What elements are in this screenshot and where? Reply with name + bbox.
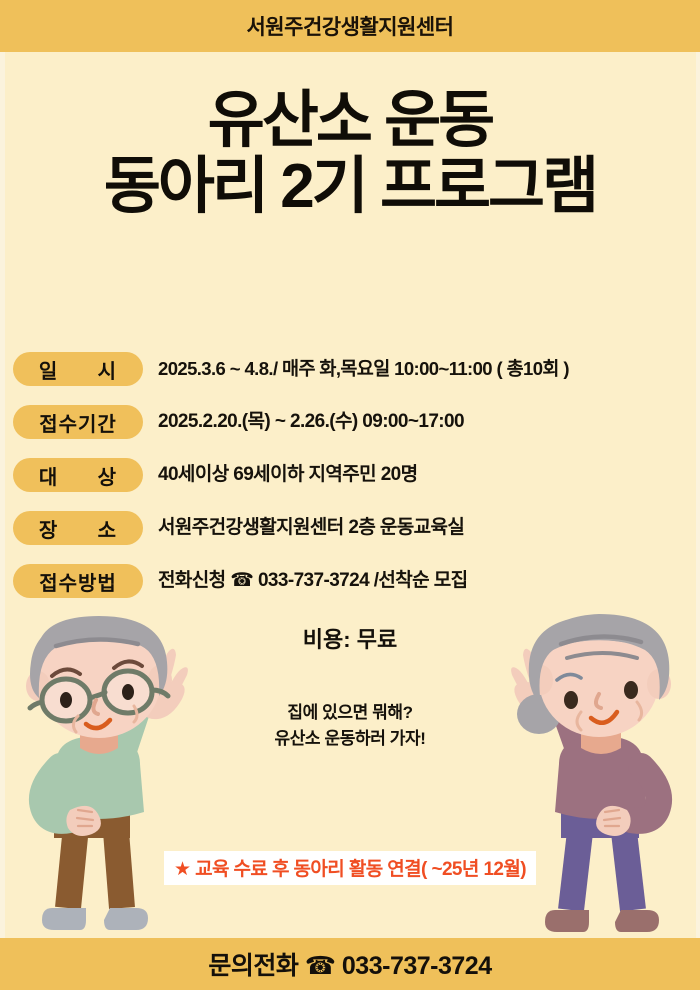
info-row-registration-period: 접수기간 2025.2.20.(목) ~ 2.26.(수) 09:00~17:0…: [0, 401, 700, 454]
highlight-text: ★ 교육 수료 후 동아리 활동 연결( ~25년 12월): [164, 851, 536, 885]
info-value: 2025.3.6 ~ 4.8./ 매주 화,목요일 10:00~11:00 ( …: [158, 353, 569, 385]
info-value: 서원주건강생활지원센터 2층 운동교육실: [158, 512, 464, 544]
info-label: 접수기간: [39, 408, 117, 437]
header-band: 서원주건강생활지원센터: [0, 0, 700, 52]
info-table: 일 시 2025.3.6 ~ 4.8./ 매주 화,목요일 10:00~11:0…: [0, 348, 700, 613]
info-row-schedule: 일 시 2025.3.6 ~ 4.8./ 매주 화,목요일 10:00~11:0…: [0, 348, 700, 401]
page-title: 유산소 운동 동아리 2기 프로그램: [0, 88, 700, 219]
organization-title: 서원주건강생활지원센터: [246, 11, 453, 41]
label-pill-schedule: 일 시: [13, 352, 143, 386]
label-pill-location: 장 소: [13, 511, 143, 545]
info-label: 장 소: [39, 514, 117, 543]
label-pill-target: 대 상: [13, 458, 143, 492]
footer-band: 문의전화 ☎ 033-737-3724: [0, 938, 700, 990]
title-line-1: 유산소 운동: [0, 88, 700, 154]
elderly-man-illustration: [0, 588, 204, 938]
footer-contact: 문의전화 ☎ 033-737-3724: [208, 946, 491, 982]
info-value: 40세이상 69세이하 지역주민 20명: [158, 459, 418, 491]
info-label: 대 상: [39, 461, 117, 490]
elderly-woman-illustration: [499, 588, 700, 938]
info-value: 2025.2.20.(목) ~ 2.26.(수) 09:00~17:00: [158, 406, 464, 438]
info-value: 전화신청 ☎ 033-737-3724 /선착순 모집: [158, 565, 468, 597]
label-pill-registration-period: 접수기간: [13, 405, 143, 439]
info-row-target: 대 상 40세이상 69세이하 지역주민 20명: [0, 454, 700, 507]
title-line-2: 동아리 2기 프로그램: [0, 154, 700, 220]
info-label: 일 시: [39, 355, 117, 384]
info-row-location: 장 소 서원주건강생활지원센터 2층 운동교육실: [0, 507, 700, 560]
poster-root: 서원주건강생활지원센터 유산소 운동 동아리 2기 프로그램 일 시 2025.…: [0, 0, 700, 990]
